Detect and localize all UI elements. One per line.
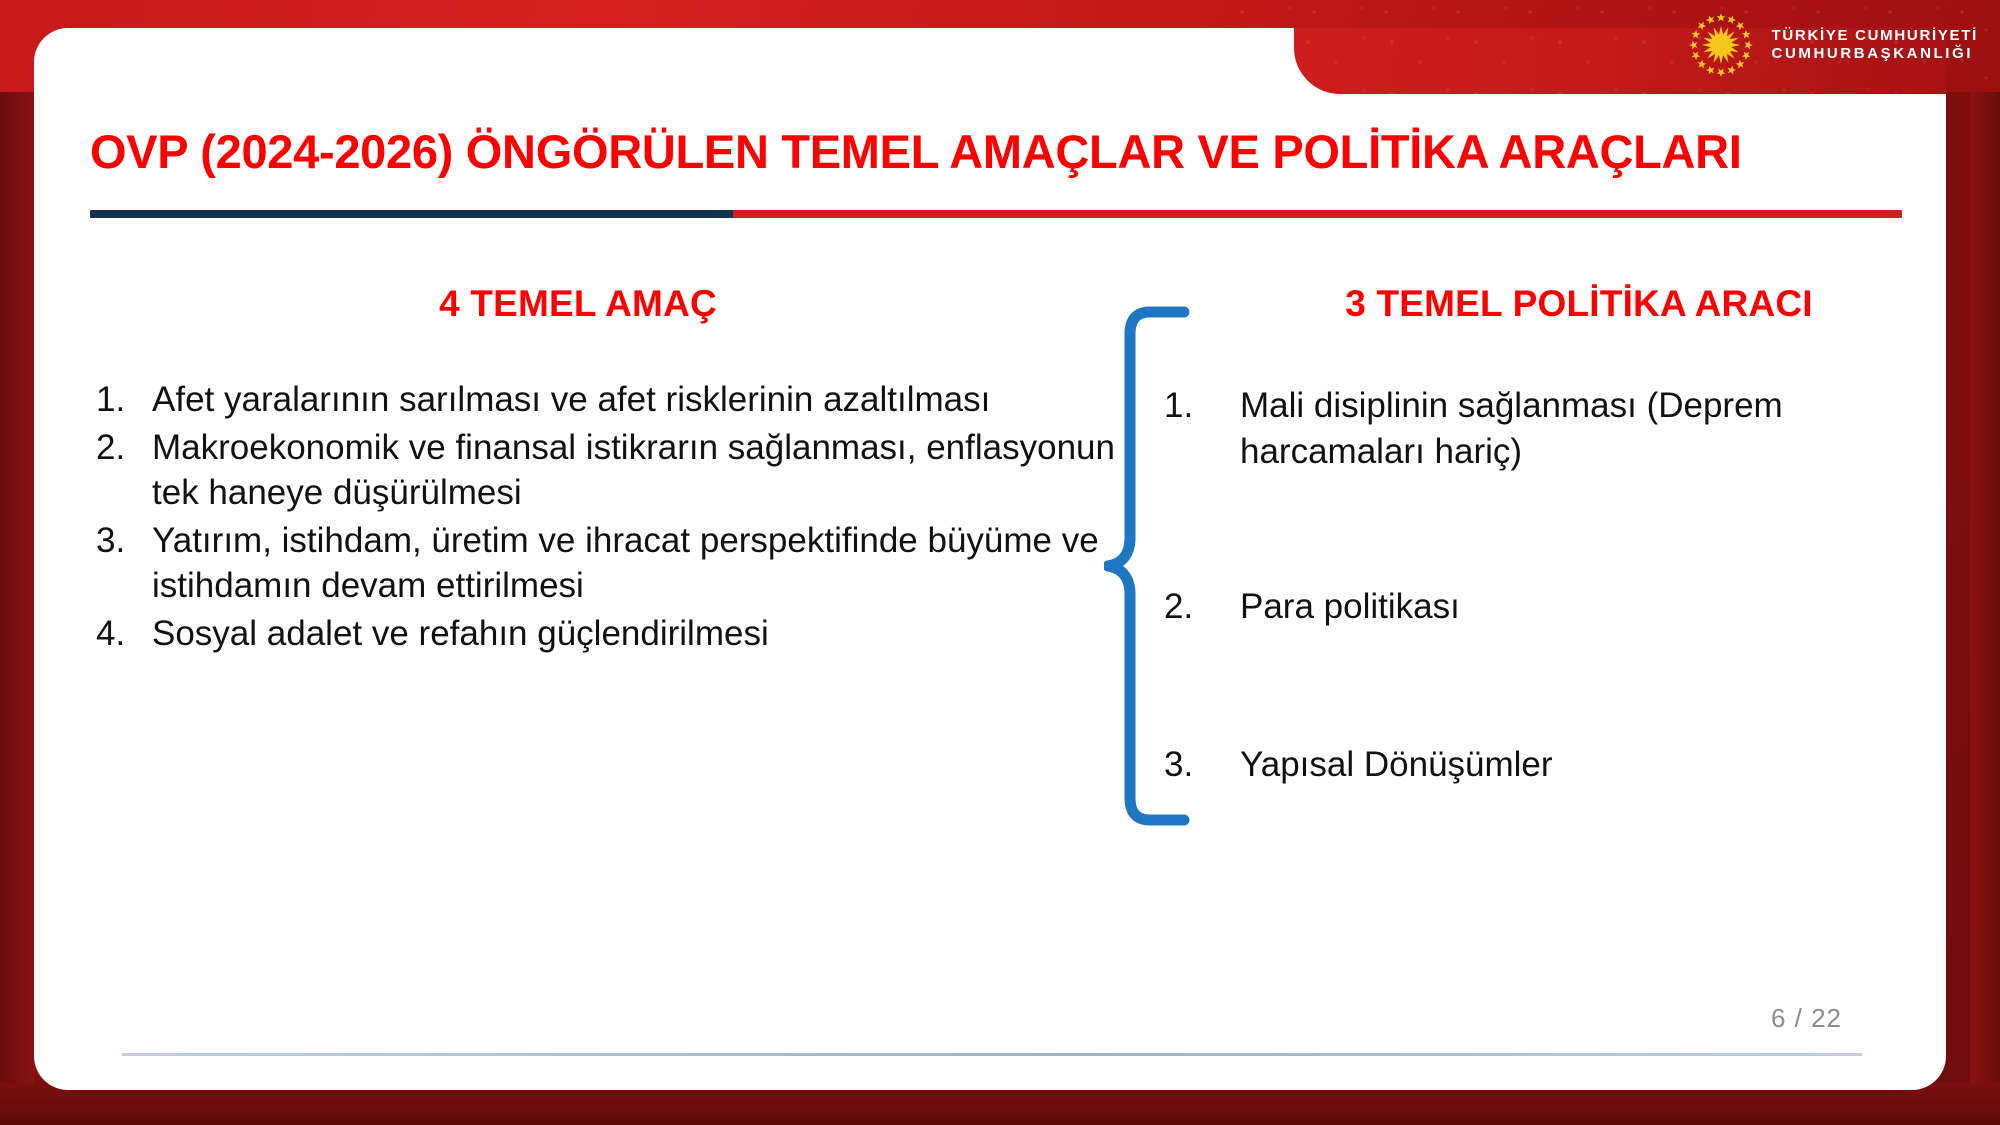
background-edge-left xyxy=(0,0,34,1125)
presidency-logo: TÜRKİYE CUMHURİYETİ CUMHURBAŞKANLIĞI xyxy=(1684,6,1978,84)
page-title: OVP (2024-2026) ÖNGÖRÜLEN TEMEL AMAÇLAR … xyxy=(90,124,1890,179)
list-item: 4. Sosyal adalet ve refahın güçlendirilm… xyxy=(90,611,1120,657)
list-item-number: 1. xyxy=(96,377,142,423)
right-column-heading: 3 TEMEL POLİTİKA ARACI xyxy=(1154,283,1944,325)
policy-tools-list: 1. Mali disiplinin sağlanması (Deprem ha… xyxy=(1154,383,1944,787)
objectives-list: 1. Afet yaralarının sarılması ve afet ri… xyxy=(90,377,1120,656)
slide-canvas: OVP (2024-2026) ÖNGÖRÜLEN TEMEL AMAÇLAR … xyxy=(0,0,2000,1125)
list-item-text: Afet yaralarının sarılması ve afet riskl… xyxy=(152,377,1120,423)
left-column: 4 TEMEL AMAÇ 1. Afet yaralarının sarılma… xyxy=(90,283,1120,658)
turkish-presidency-sun-emblem-icon xyxy=(1684,8,1758,82)
list-item-number: 4. xyxy=(96,611,142,657)
footer-divider xyxy=(122,1053,1862,1056)
logo-line-2: CUMHURBAŞKANLIĞI xyxy=(1772,45,1978,63)
list-item-number: 2. xyxy=(1164,584,1193,630)
right-column: 3 TEMEL POLİTİKA ARACI 1. Mali disiplini… xyxy=(1154,283,1944,787)
list-item-number: 1. xyxy=(1164,383,1193,429)
list-item-number: 3. xyxy=(96,518,142,564)
list-item-number: 3. xyxy=(1164,742,1193,788)
list-item-text: Mali disiplinin sağlanması (Deprem harca… xyxy=(1240,386,1783,471)
list-item-text: Makroekonomik ve finansal istikrarın sağ… xyxy=(152,425,1120,516)
list-item: 1. Mali disiplinin sağlanması (Deprem ha… xyxy=(1154,383,1944,474)
logo-wordmark: TÜRKİYE CUMHURİYETİ CUMHURBAŞKANLIĞI xyxy=(1772,27,1978,64)
page-indicator: 6 / 22 xyxy=(1771,1003,1842,1034)
logo-line-1: TÜRKİYE CUMHURİYETİ xyxy=(1772,27,1978,45)
title-divider-navy-segment xyxy=(90,210,733,218)
list-item-number: 2. xyxy=(96,425,142,471)
list-item: 1. Afet yaralarının sarılması ve afet ri… xyxy=(90,377,1120,423)
list-item: 3. Yapısal Dönüşümler xyxy=(1154,742,1944,788)
title-divider xyxy=(90,210,1902,218)
slide-content-card: OVP (2024-2026) ÖNGÖRÜLEN TEMEL AMAÇLAR … xyxy=(34,28,1946,1090)
list-item: 2. Para politikası xyxy=(1154,584,1944,630)
title-divider-red-segment xyxy=(733,210,1902,218)
list-item-text: Yapısal Dönüşümler xyxy=(1240,745,1553,784)
list-item: 3. Yatırım, istihdam, üretim ve ihracat … xyxy=(90,518,1120,609)
list-item-text: Yatırım, istihdam, üretim ve ihracat per… xyxy=(152,518,1120,609)
list-item: 2. Makroekonomik ve finansal istikrarın … xyxy=(90,425,1120,516)
left-column-heading: 4 TEMEL AMAÇ xyxy=(90,283,1120,325)
list-item-text: Sosyal adalet ve refahın güçlendirilmesi xyxy=(152,611,1120,657)
list-item-text: Para politikası xyxy=(1240,587,1460,626)
background-edge-right xyxy=(1970,0,2000,1125)
